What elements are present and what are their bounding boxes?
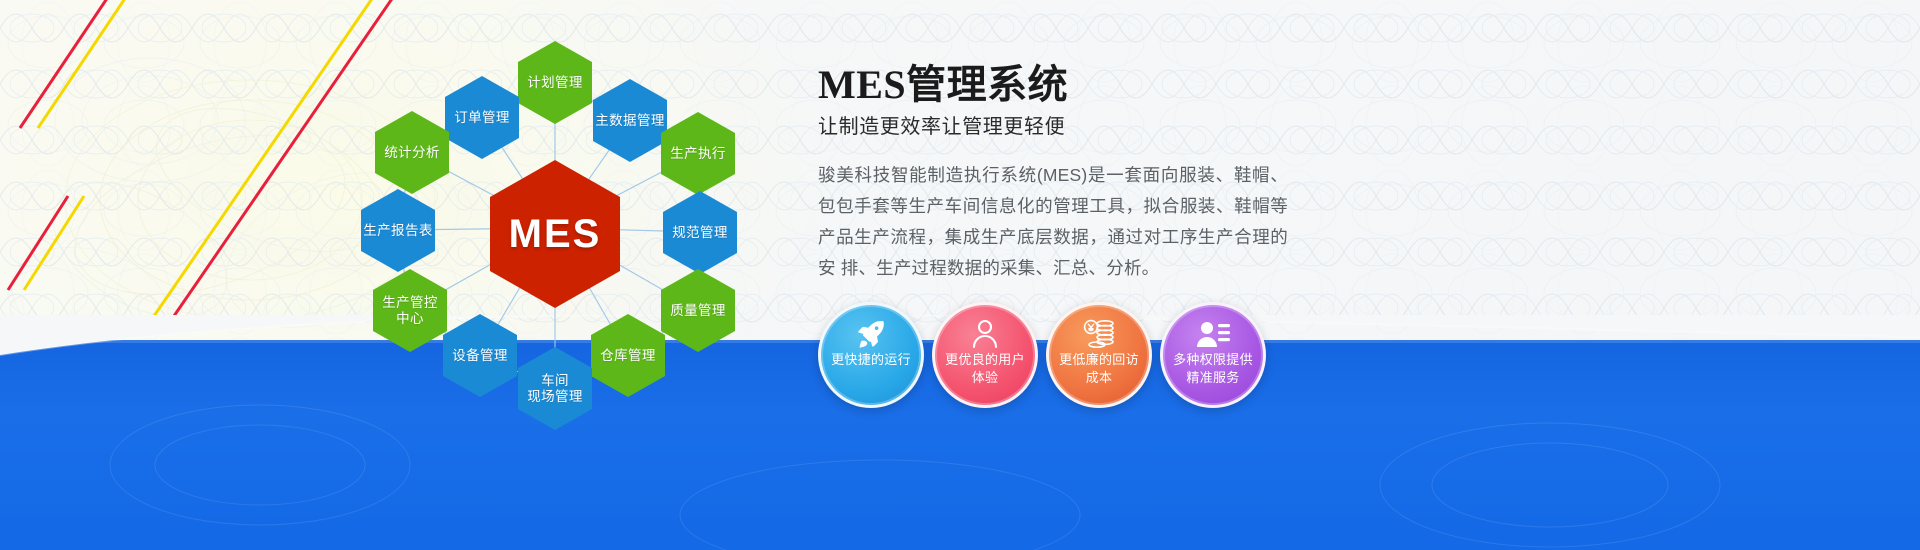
badge-label: 更优良的用户 体验	[939, 351, 1031, 387]
banner-copy: MES管理系统 让制造更效率让管理更轻便 骏美科技智能制造执行系统(MES)是一…	[818, 62, 1288, 284]
badge-label: 多种权限提供 精准服务	[1167, 351, 1259, 387]
feature-badges: 更快捷的运行 更优良的用户 体验	[818, 302, 1266, 408]
badge-faster-operation[interactable]: 更快捷的运行	[818, 302, 924, 408]
badge-lower-revisit-cost[interactable]: 更低廉的回访 成本	[1046, 302, 1152, 408]
badge-label: 更低廉的回访 成本	[1053, 351, 1145, 387]
page-description: 骏美科技智能制造执行系统(MES)是一套面向服装、鞋帽、包包手套等生产车间信息化…	[818, 160, 1288, 284]
rocket-icon	[854, 318, 888, 350]
user-icon	[968, 318, 1002, 350]
badge-label: 更快捷的运行	[825, 351, 917, 369]
badge-multi-permission[interactable]: 多种权限提供 精准服务	[1160, 302, 1266, 408]
page-subtitle: 让制造更效率让管理更轻便	[818, 114, 1288, 140]
page-title: MES管理系统	[818, 62, 1288, 108]
mes-promo-banner: MES 计划管理 订单管理 主数据管理 统计分析 生产执行 生产报告表 规范管理…	[0, 0, 1920, 550]
coins-icon	[1082, 318, 1116, 350]
permissions-icon	[1196, 318, 1230, 350]
badge-better-user-experience[interactable]: 更优良的用户 体验	[932, 302, 1038, 408]
mes-hexagon-diagram: MES 计划管理 订单管理 主数据管理 统计分析 生产执行 生产报告表 规范管理…	[330, 10, 800, 440]
